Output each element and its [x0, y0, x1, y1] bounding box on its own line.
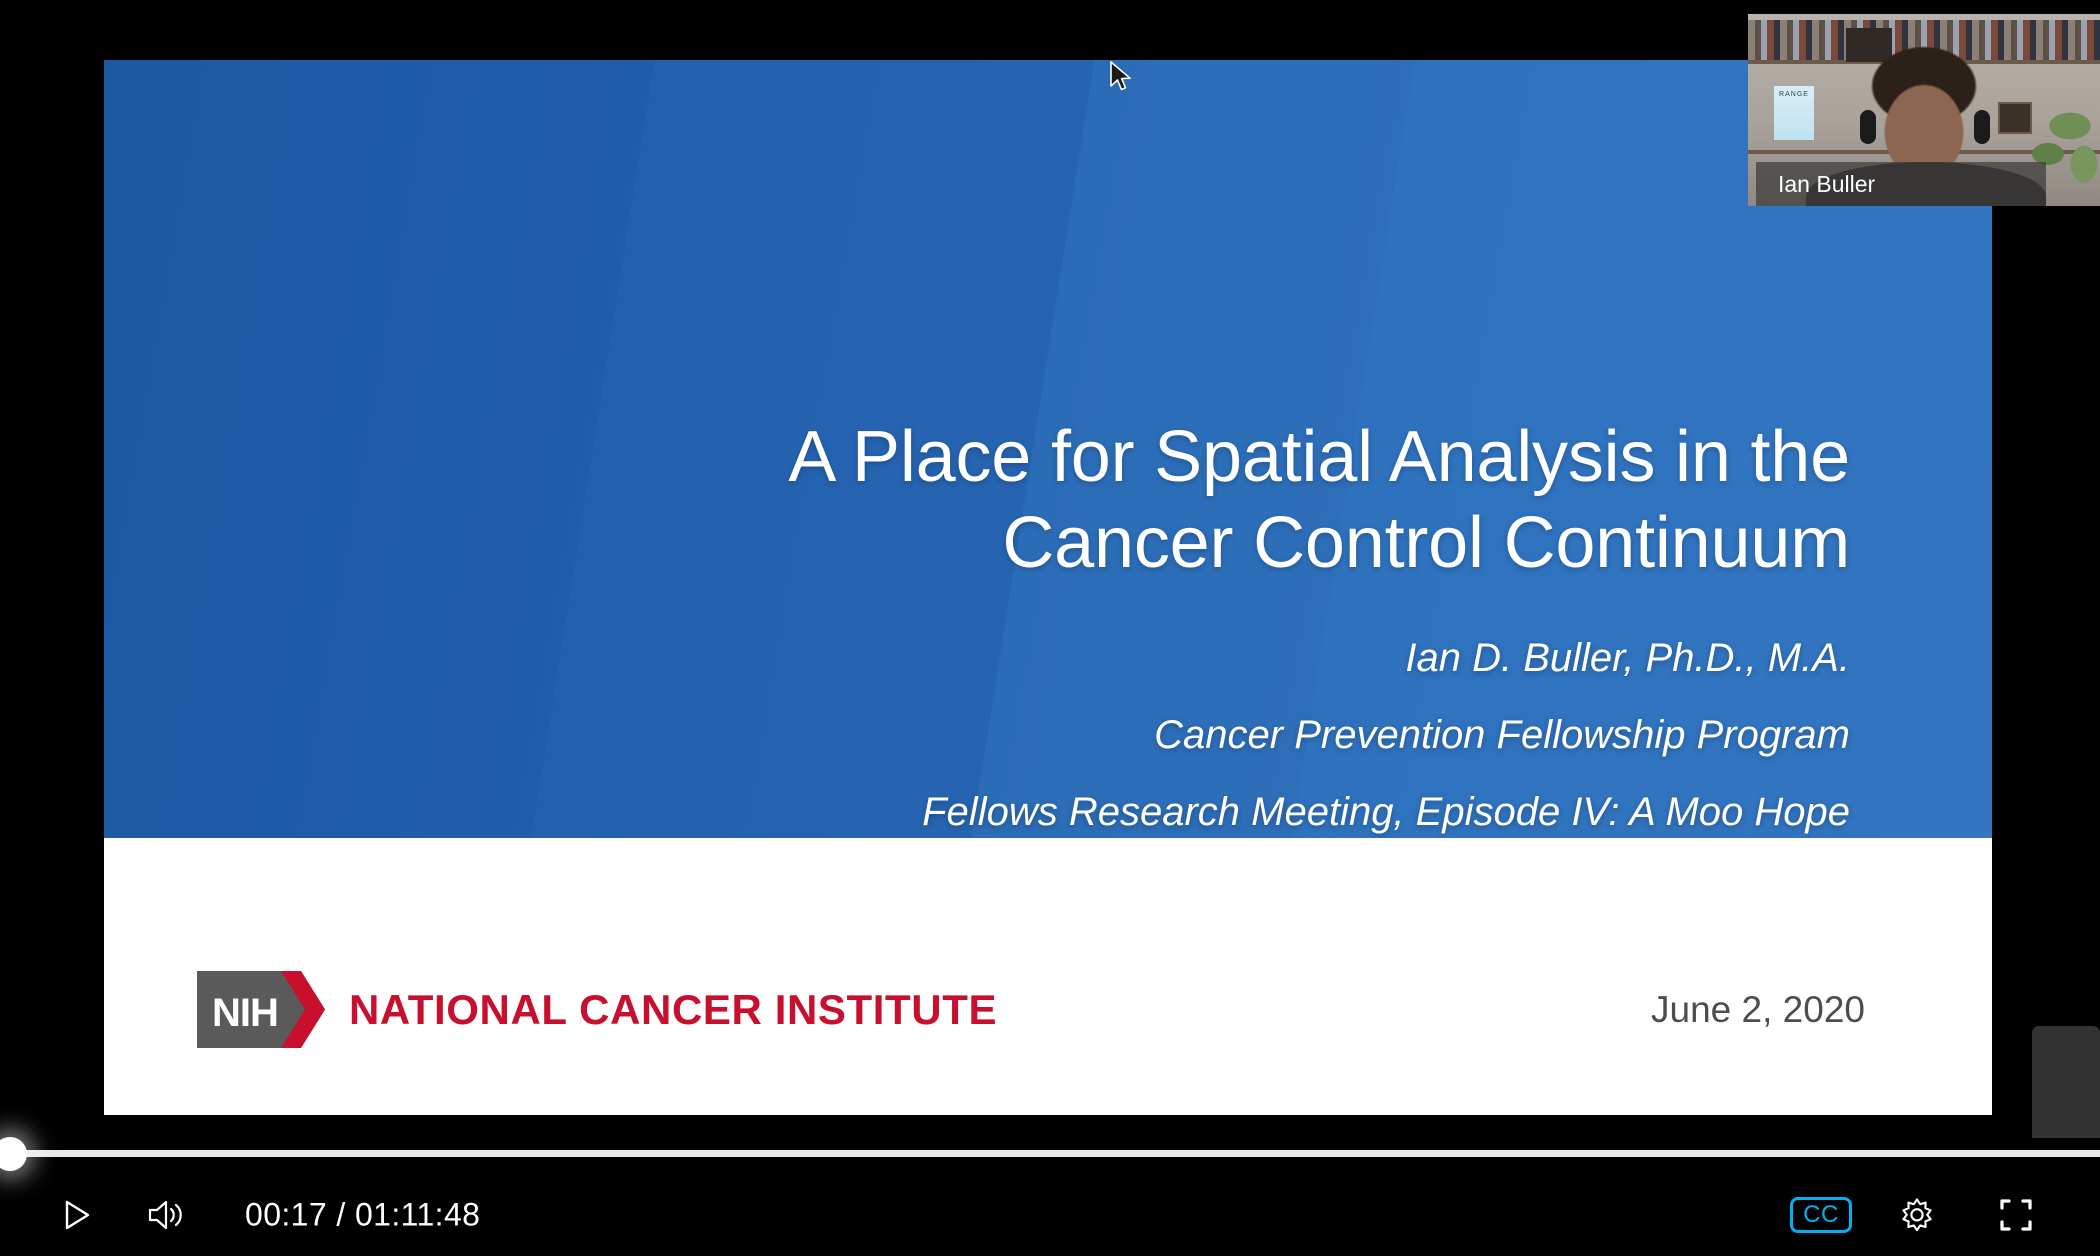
settings-button[interactable] — [1893, 1191, 1941, 1239]
play-button[interactable] — [52, 1191, 100, 1239]
svg-text:NIH: NIH — [212, 991, 278, 1035]
headset-right-cup — [1974, 110, 1990, 144]
fullscreen-button[interactable] — [1992, 1191, 2040, 1239]
bookshelf-book: RANGE — [1774, 86, 1814, 140]
headset-left-cup — [1860, 110, 1876, 144]
video-player: A Place for Spatial Analysis in the Canc… — [0, 0, 2100, 1256]
slide-title-line-2: Cancer Control Continuum — [600, 501, 1850, 587]
speaker-on-icon — [145, 1195, 187, 1235]
progress-bar-track[interactable] — [0, 1150, 2100, 1157]
slide-title-line-1: A Place for Spatial Analysis in the — [600, 415, 1850, 501]
presentation-slide: A Place for Spatial Analysis in the Canc… — [104, 60, 1992, 1115]
slide-title: A Place for Spatial Analysis in the Canc… — [600, 415, 1850, 586]
slide-subtitle-presenter: Ian D. Buller, Ph.D., M.A. — [600, 636, 1850, 681]
controls-row: 00:17 / 01:11:48 CC — [0, 1174, 2100, 1256]
slide-text-block: A Place for Spatial Analysis in the Canc… — [600, 60, 1850, 835]
slide-subtitle-program: Cancer Prevention Fellowship Program — [600, 713, 1850, 758]
player-controls-bar: 00:17 / 01:11:48 CC — [0, 1138, 2100, 1256]
picture-frame — [1998, 102, 2032, 134]
participant-name-bar: Ian Buller — [1756, 162, 2046, 206]
progress-bar-buffer — [0, 1150, 2100, 1157]
nih-logo-icon: NIH — [197, 971, 325, 1048]
play-triangle-icon — [56, 1195, 96, 1235]
fullscreen-brackets-icon — [1995, 1194, 2037, 1236]
progress-bar-handle[interactable] — [0, 1137, 27, 1171]
slide-blue-area: A Place for Spatial Analysis in the Canc… — [104, 60, 1992, 838]
slide-subtitle-event: Fellows Research Meeting, Episode IV: A … — [600, 790, 1850, 835]
gear-icon — [1896, 1194, 1938, 1236]
nci-wordmark: NATIONAL CANCER INSTITUTE — [349, 986, 997, 1034]
slide-date: June 2, 2020 — [1651, 989, 1865, 1031]
participant-video-tile[interactable]: RANGE Ian Buller — [1748, 14, 2100, 206]
closed-captions-button[interactable]: CC — [1790, 1197, 1852, 1233]
volume-button[interactable] — [142, 1191, 190, 1239]
time-display: 00:17 / 01:11:48 — [245, 1197, 480, 1234]
nci-logo: NIH NATIONAL CANCER INSTITUTE — [197, 971, 997, 1048]
slide-white-footer: NIH NATIONAL CANCER INSTITUTE June 2, 20… — [104, 838, 1992, 1115]
participant-name: Ian Buller — [1756, 171, 1875, 198]
cc-label: CC — [1803, 1203, 1839, 1227]
